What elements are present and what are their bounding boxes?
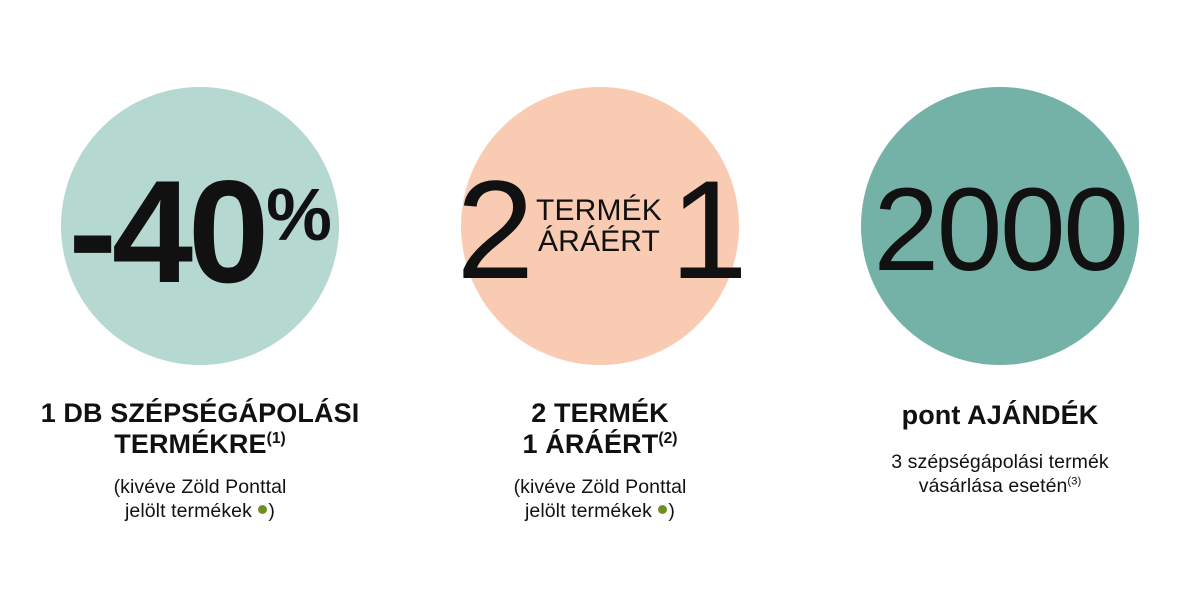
green-point-dot-icon [658, 505, 667, 514]
caption-subtitle-line-1: (kivéve Zöld Ponttal [514, 476, 687, 498]
caption-subtitle-line-2-after: ) [668, 500, 675, 522]
combo-left-number: 2 [456, 173, 530, 288]
promo-board: -40 % 1 DB SZÉPSÉGÁPOLÁSI TERMÉKRE(1) (k… [0, 0, 1200, 600]
caption-title-line-1: pont AJÁNDÉK [902, 400, 1099, 430]
caption-title-line-2: 1 ÁRÁÉRT [522, 429, 658, 459]
caption-subtitle-two-for-one: (kivéve Zöld Ponttal jelölt termékek ) [400, 475, 800, 523]
discount-value: -40 % [68, 172, 331, 292]
caption-subtitle-line-2-after: ) [268, 500, 275, 522]
badge-content-bonus-points: 2000 [800, 87, 1200, 365]
caption-two-for-one: 2 TERMÉK 1 ÁRÁÉRT(2) (kivéve Zöld Pontta… [400, 398, 800, 523]
caption-subtitle-line-1: (kivéve Zöld Ponttal [114, 476, 287, 498]
badge-area-two-for-one: 2 TERMÉK ÁRÁÉRT 1 [400, 0, 800, 300]
caption-discount-40: 1 DB SZÉPSÉGÁPOLÁSI TERMÉKRE(1) (kivéve … [0, 398, 400, 523]
caption-subtitle-line-2-before: jelölt termékek [525, 500, 657, 522]
combo-middle-line-2: ÁRÁÉRT [538, 226, 660, 257]
points-number: 2000 [873, 180, 1126, 280]
caption-bonus-points: pont AJÁNDÉK 3 szépségápolási termék vás… [800, 400, 1200, 499]
caption-title-two-for-one: 2 TERMÉK 1 ÁRÁÉRT(2) [400, 398, 800, 461]
percent-symbol: % [266, 178, 331, 252]
badge-area-discount-40: -40 % [0, 0, 400, 300]
caption-subtitle-line-1: 3 szépségápolási termék [891, 451, 1109, 473]
caption-subtitle-line-2-before: vásárlása esetén [919, 475, 1068, 497]
caption-title-line-1: 1 DB SZÉPSÉGÁPOLÁSI [41, 398, 360, 428]
offer-card-bonus-points: 2000 pont AJÁNDÉK 3 szépségápolási termé… [800, 0, 1200, 600]
green-point-dot-icon [258, 505, 267, 514]
discount-number: -40 [68, 172, 264, 292]
caption-title-line-2: TERMÉKRE [114, 429, 266, 459]
combo-value: 2 TERMÉK ÁRÁÉRT 1 [435, 173, 765, 288]
offer-card-discount-40: -40 % 1 DB SZÉPSÉGÁPOLÁSI TERMÉKRE(1) (k… [0, 0, 400, 600]
caption-title-bonus-points: pont AJÁNDÉK [800, 400, 1200, 431]
caption-title-line-1: 2 TERMÉK [531, 398, 668, 428]
badge-content-two-for-one: 2 TERMÉK ÁRÁÉRT 1 [400, 87, 800, 365]
badge-area-bonus-points: 2000 [800, 0, 1200, 300]
caption-subtitle-discount-40: (kivéve Zöld Ponttal jelölt termékek ) [0, 475, 400, 523]
footnote-marker-2: (2) [658, 430, 677, 447]
caption-subtitle-line-2-before: jelölt termékek [125, 500, 257, 522]
combo-middle-label: TERMÉK ÁRÁÉRT [532, 195, 666, 257]
footnote-marker-3: (3) [1067, 476, 1081, 488]
caption-subtitle-bonus-points: 3 szépségápolási termék vásárlása esetén… [800, 450, 1200, 498]
offer-card-two-for-one: 2 TERMÉK ÁRÁÉRT 1 2 TERMÉK 1 ÁRÁÉRT(2) (… [400, 0, 800, 600]
combo-right-number: 1 [670, 173, 744, 288]
caption-title-discount-40: 1 DB SZÉPSÉGÁPOLÁSI TERMÉKRE(1) [0, 398, 400, 461]
footnote-marker-1: (1) [267, 430, 286, 447]
badge-content-discount-40: -40 % [0, 87, 400, 365]
combo-middle-line-1: TERMÉK [536, 195, 662, 226]
